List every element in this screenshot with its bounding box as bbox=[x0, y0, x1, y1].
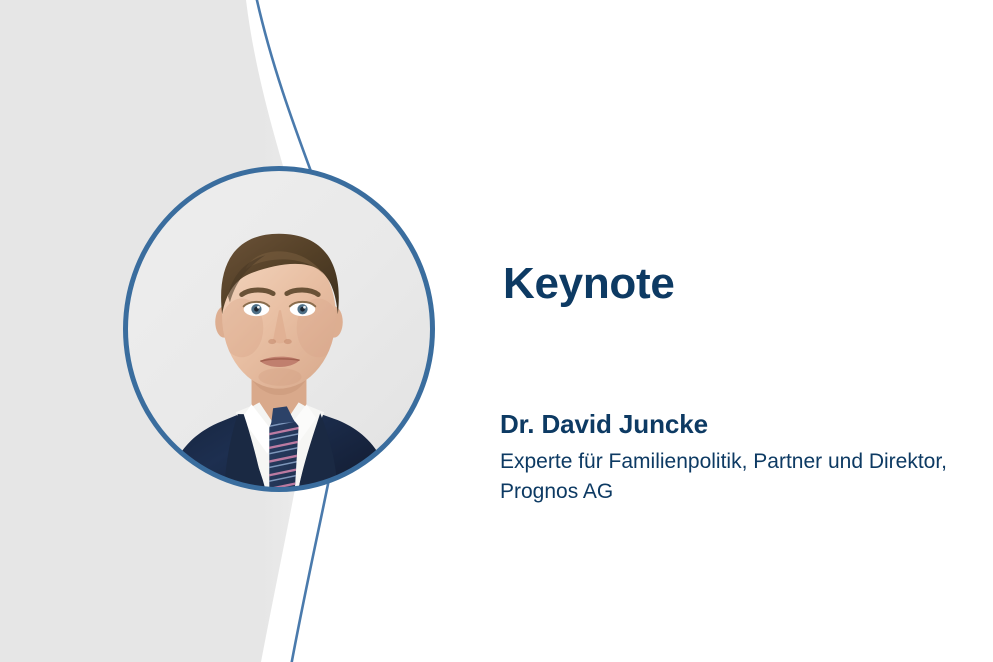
eye-right bbox=[290, 302, 315, 316]
speaker-portrait bbox=[123, 166, 435, 492]
page-title: Keynote bbox=[503, 262, 675, 306]
text-column: Keynote Dr. David Juncke Experte für Fam… bbox=[500, 0, 980, 662]
eye-left bbox=[244, 302, 269, 316]
portrait-image-clip bbox=[126, 169, 432, 489]
speaker-info: Dr. David Juncke Experte für Familienpol… bbox=[500, 408, 978, 506]
portrait-photo bbox=[126, 169, 432, 489]
speaker-name: Dr. David Juncke bbox=[500, 408, 978, 442]
keynote-slide: Keynote Dr. David Juncke Experte für Fam… bbox=[0, 0, 993, 662]
speaker-role: Experte für Familienpolitik, Partner und… bbox=[500, 447, 978, 507]
